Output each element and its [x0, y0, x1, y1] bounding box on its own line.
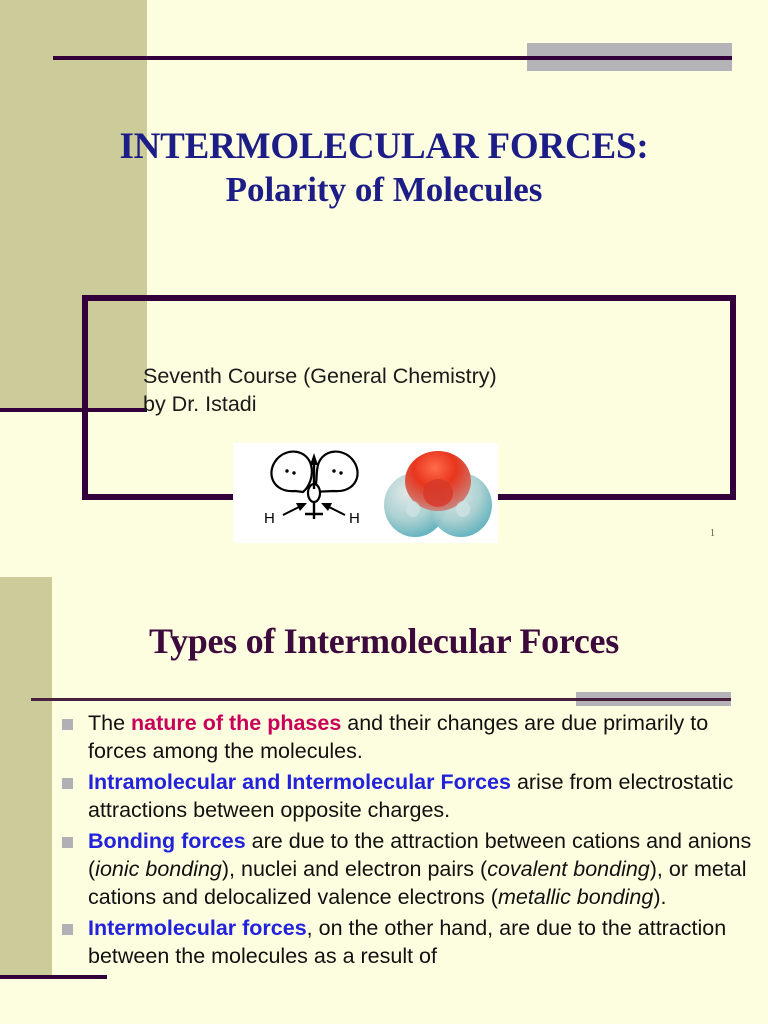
- slide-title: INTERMOLECULAR FORCES: Polarity of Molec…: [0, 0, 768, 576]
- slide1-subtitle: Seventh Course (General Chemistry) by Dr…: [143, 362, 703, 419]
- bullet-text-run: ), nuclei and electron pairs (: [222, 857, 487, 881]
- bullet-text-run: Intermolecular forces: [88, 916, 307, 940]
- bullet-text-run: The: [88, 711, 131, 735]
- square-bullet-icon: [62, 719, 73, 730]
- slide2-bullet-list-container: The nature of the phases and their chang…: [60, 710, 760, 973]
- water-figure-svg: H H: [233, 443, 498, 543]
- water-figure-h-left-label: H: [264, 510, 275, 527]
- bullet-item: Intermolecular forces, on the other hand…: [60, 915, 760, 971]
- slide2-title: Types of Intermolecular Forces: [0, 620, 768, 662]
- slide1-title: INTERMOLECULAR FORCES: Polarity of Molec…: [0, 128, 768, 209]
- slide1-page-number: 1: [710, 528, 715, 539]
- bullet-text-run: covalent bonding: [487, 857, 650, 881]
- water-molecule-polarity-figure: H H: [233, 443, 498, 543]
- slide-types-of-intermolecular-forces: Types of Intermolecular Forces The natur…: [0, 576, 768, 1024]
- slide1-title-line2: Polarity of Molecules: [0, 172, 768, 208]
- bullet-item: Bonding forces are due to the attraction…: [60, 828, 760, 912]
- square-bullet-icon: [62, 778, 73, 789]
- bullet-text-run: ).: [653, 885, 666, 909]
- slide1-header-rule: [53, 56, 732, 60]
- bullet-text-run: Intramolecular and Intermolecular Forces: [88, 770, 511, 794]
- slide2-title-rule: [31, 698, 731, 701]
- square-bullet-icon: [62, 837, 73, 848]
- slide1-title-line1: INTERMOLECULAR FORCES:: [0, 128, 768, 166]
- slide2-sidebar-underline: [0, 975, 107, 979]
- bullet-item: Intramolecular and Intermolecular Forces…: [60, 769, 760, 825]
- slide1-subtitle-line1: Seventh Course (General Chemistry): [143, 362, 703, 390]
- bullet-text-run: metallic bonding: [498, 885, 653, 909]
- water-figure-h-right-label: H: [349, 510, 360, 527]
- bullet-text-run: ionic bonding: [95, 857, 222, 881]
- bullet-item: The nature of the phases and their chang…: [60, 710, 760, 766]
- slide1-subtitle-line2: by Dr. Istadi: [143, 390, 703, 418]
- slide2-bullet-list: The nature of the phases and their chang…: [60, 710, 760, 970]
- square-bullet-icon: [62, 924, 73, 935]
- bullet-text-run: Bonding forces: [88, 829, 246, 853]
- bullet-text-run: nature of the phases: [131, 711, 341, 735]
